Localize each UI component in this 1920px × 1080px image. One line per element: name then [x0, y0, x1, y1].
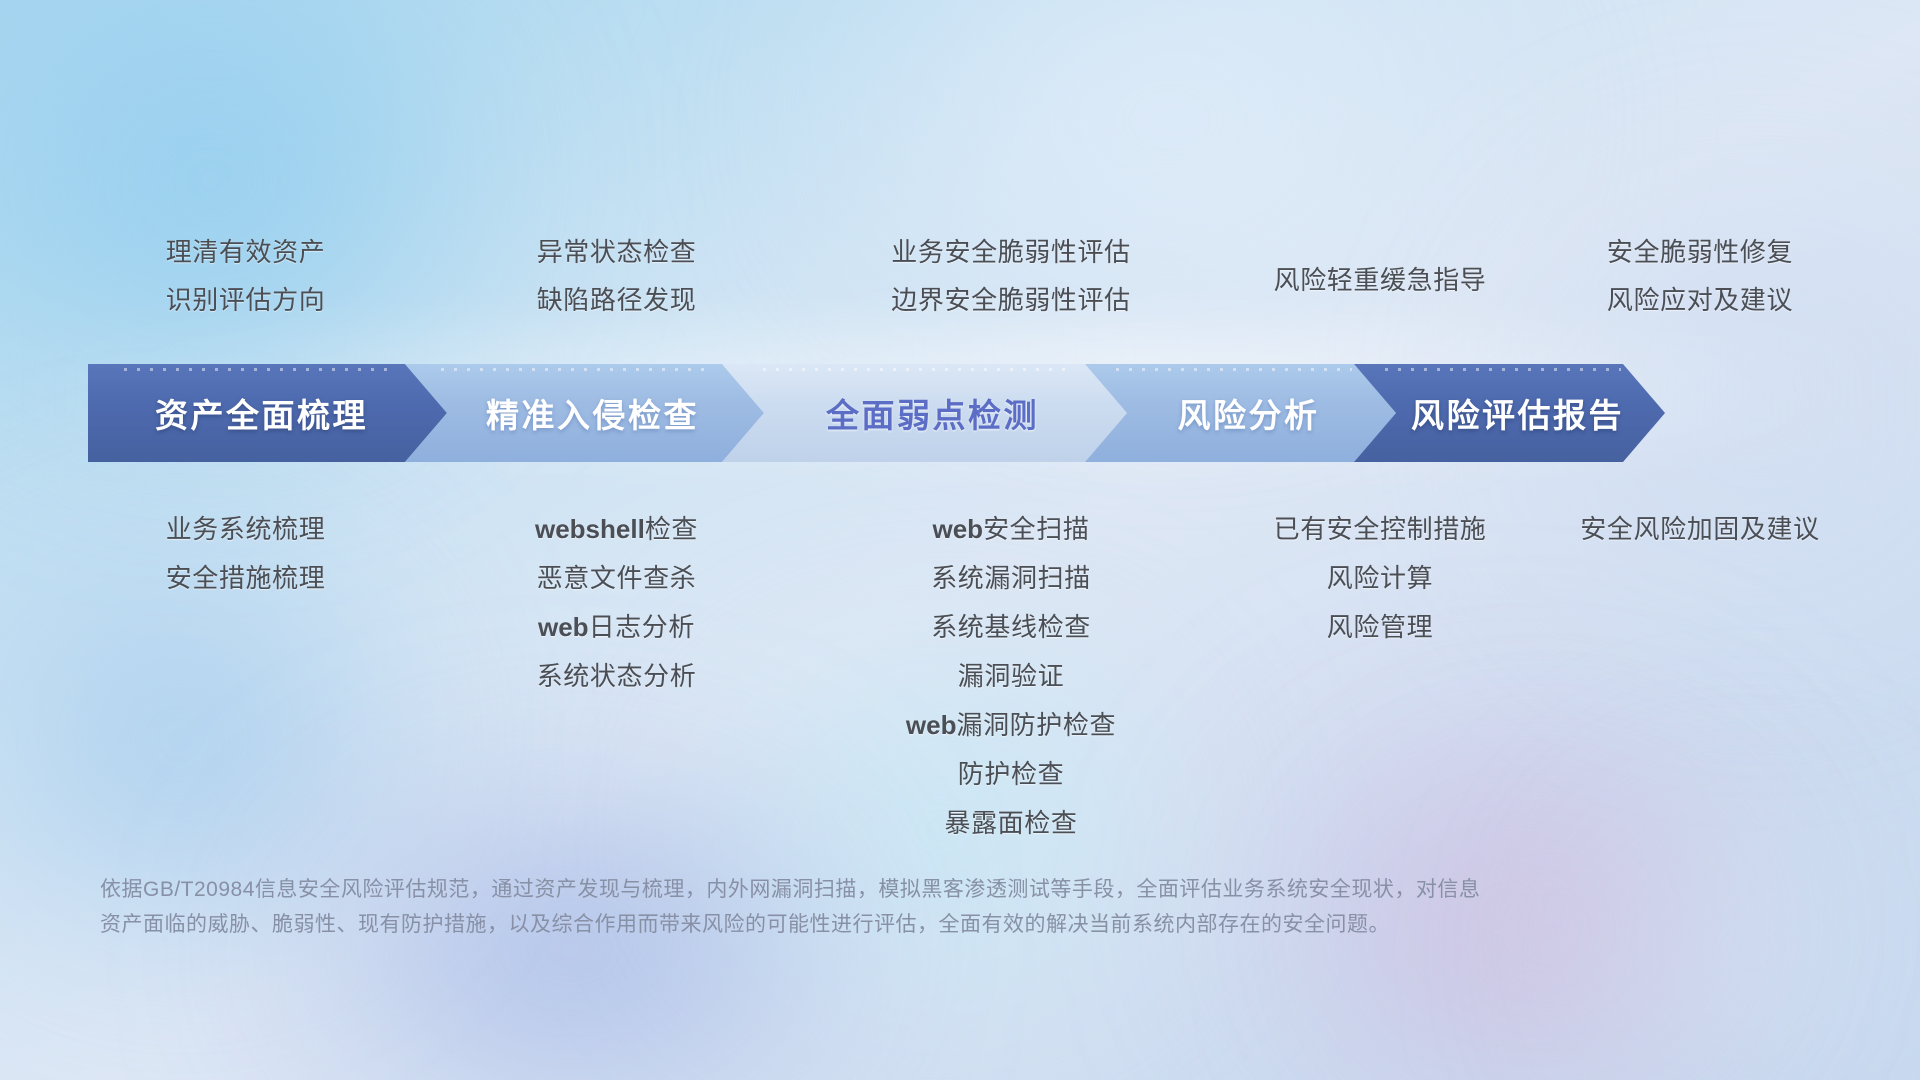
- chevron-speckle-detail: [1116, 368, 1352, 371]
- note-item: 识别评估方向: [166, 276, 326, 324]
- notes-column-step-4-above: 风险轻重缓急指导: [1220, 228, 1540, 318]
- notes-column-step-3-above: 业务安全脆弱性评估边界安全脆弱性评估: [802, 228, 1220, 318]
- note-latin-token: web: [906, 710, 957, 740]
- notes-row-below: 业务系统梳理安全措施梳理webshell检查恶意文件查杀web日志分析系统状态分…: [60, 505, 1860, 835]
- note-cjk-token: 检查: [645, 514, 698, 544]
- footer-line-1: 依据GB/T20984信息安全风险评估规范，通过资产发现与梳理，内外网漏洞扫描，…: [100, 872, 1660, 907]
- note-cjk-token: 安全扫描: [983, 514, 1089, 544]
- process-step-1[interactable]: 资产全面梳理: [88, 364, 447, 462]
- notes-row-above: 理清有效资产识别评估方向异常状态检查缺陷路径发现业务安全脆弱性评估边界安全脆弱性…: [60, 228, 1860, 318]
- note-item: web安全扫描: [933, 505, 1090, 554]
- chevron-speckle-detail: [763, 368, 1071, 371]
- notes-column-step-1-above: 理清有效资产识别评估方向: [60, 228, 431, 318]
- note-latin-token: webshell: [535, 514, 645, 544]
- note-item: webshell检查: [535, 505, 698, 554]
- notes-column-step-1-below: 业务系统梳理安全措施梳理: [60, 505, 431, 835]
- note-item: 系统状态分析: [537, 652, 697, 701]
- note-item: 系统漏洞扫描: [931, 554, 1091, 603]
- footer-description: 依据GB/T20984信息安全风险评估规范，通过资产发现与梳理，内外网漏洞扫描，…: [100, 872, 1660, 942]
- process-step-4-label: 风险分析: [1178, 389, 1320, 437]
- process-chevron-band: 资产全面梳理精准入侵检查全面弱点检测风险分析风险评估报告: [88, 364, 1833, 462]
- process-step-5-label: 风险评估报告: [1411, 389, 1624, 437]
- note-latin-token: web: [538, 612, 589, 642]
- notes-column-step-2-below: webshell检查恶意文件查杀web日志分析系统状态分析: [431, 505, 802, 835]
- note-item: 已有安全控制措施: [1274, 505, 1487, 554]
- note-cjk-token: 漏洞防护检查: [956, 710, 1116, 740]
- footer-line-2: 资产面临的威胁、脆弱性、现有防护措施，以及综合作用而带来风险的可能性进行评估，全…: [100, 907, 1660, 942]
- note-item: 边界安全脆弱性评估: [891, 276, 1130, 324]
- note-item: 风险轻重缓急指导: [1274, 256, 1487, 304]
- note-item: 漏洞验证: [958, 652, 1064, 701]
- note-cjk-token: 日志分析: [589, 612, 695, 642]
- note-item: 业务安全脆弱性评估: [891, 228, 1130, 276]
- note-item: 业务系统梳理: [166, 505, 326, 554]
- note-item: 防护检查: [958, 750, 1064, 799]
- note-item: 风险应对及建议: [1607, 276, 1793, 324]
- chevron-speckle-detail: [1385, 368, 1621, 371]
- process-step-2-label: 精准入侵检查: [486, 389, 699, 437]
- notes-column-step-4-below: 已有安全控制措施风险计算风险管理: [1220, 505, 1540, 835]
- note-item: 风险计算: [1327, 554, 1433, 603]
- note-item: web漏洞防护检查: [906, 701, 1116, 750]
- note-latin-token: web: [933, 514, 984, 544]
- process-step-4[interactable]: 风险分析: [1085, 364, 1396, 462]
- note-item: 安全脆弱性修复: [1607, 228, 1793, 276]
- notes-column-step-3-below: web安全扫描系统漏洞扫描系统基线检查漏洞验证web漏洞防护检查防护检查暴露面检…: [802, 505, 1220, 835]
- notes-column-step-5-above: 安全脆弱性修复风险应对及建议: [1540, 228, 1860, 318]
- process-step-1-label: 资产全面梳理: [155, 389, 368, 437]
- note-item: 异常状态检查: [537, 228, 697, 276]
- notes-column-step-5-below: 安全风险加固及建议: [1540, 505, 1860, 835]
- note-item: 暴露面检查: [944, 799, 1077, 848]
- note-item: 理清有效资产: [166, 228, 326, 276]
- process-step-5[interactable]: 风险评估报告: [1354, 364, 1665, 462]
- note-item: web日志分析: [538, 603, 695, 652]
- note-item: 安全措施梳理: [166, 554, 326, 603]
- note-item: 风险管理: [1327, 603, 1433, 652]
- chevron-speckle-detail: [124, 368, 397, 371]
- chevron-speckle-detail: [441, 368, 714, 371]
- notes-column-step-2-above: 异常状态检查缺陷路径发现: [431, 228, 802, 318]
- note-item: 系统基线检查: [931, 603, 1091, 652]
- note-item: 缺陷路径发现: [537, 276, 697, 324]
- note-item: 安全风险加固及建议: [1580, 505, 1819, 554]
- process-step-2[interactable]: 精准入侵检查: [405, 364, 764, 462]
- process-step-3-label: 全面弱点检测: [826, 389, 1039, 437]
- note-item: 恶意文件查杀: [537, 554, 697, 603]
- process-step-3[interactable]: 全面弱点检测: [722, 364, 1127, 462]
